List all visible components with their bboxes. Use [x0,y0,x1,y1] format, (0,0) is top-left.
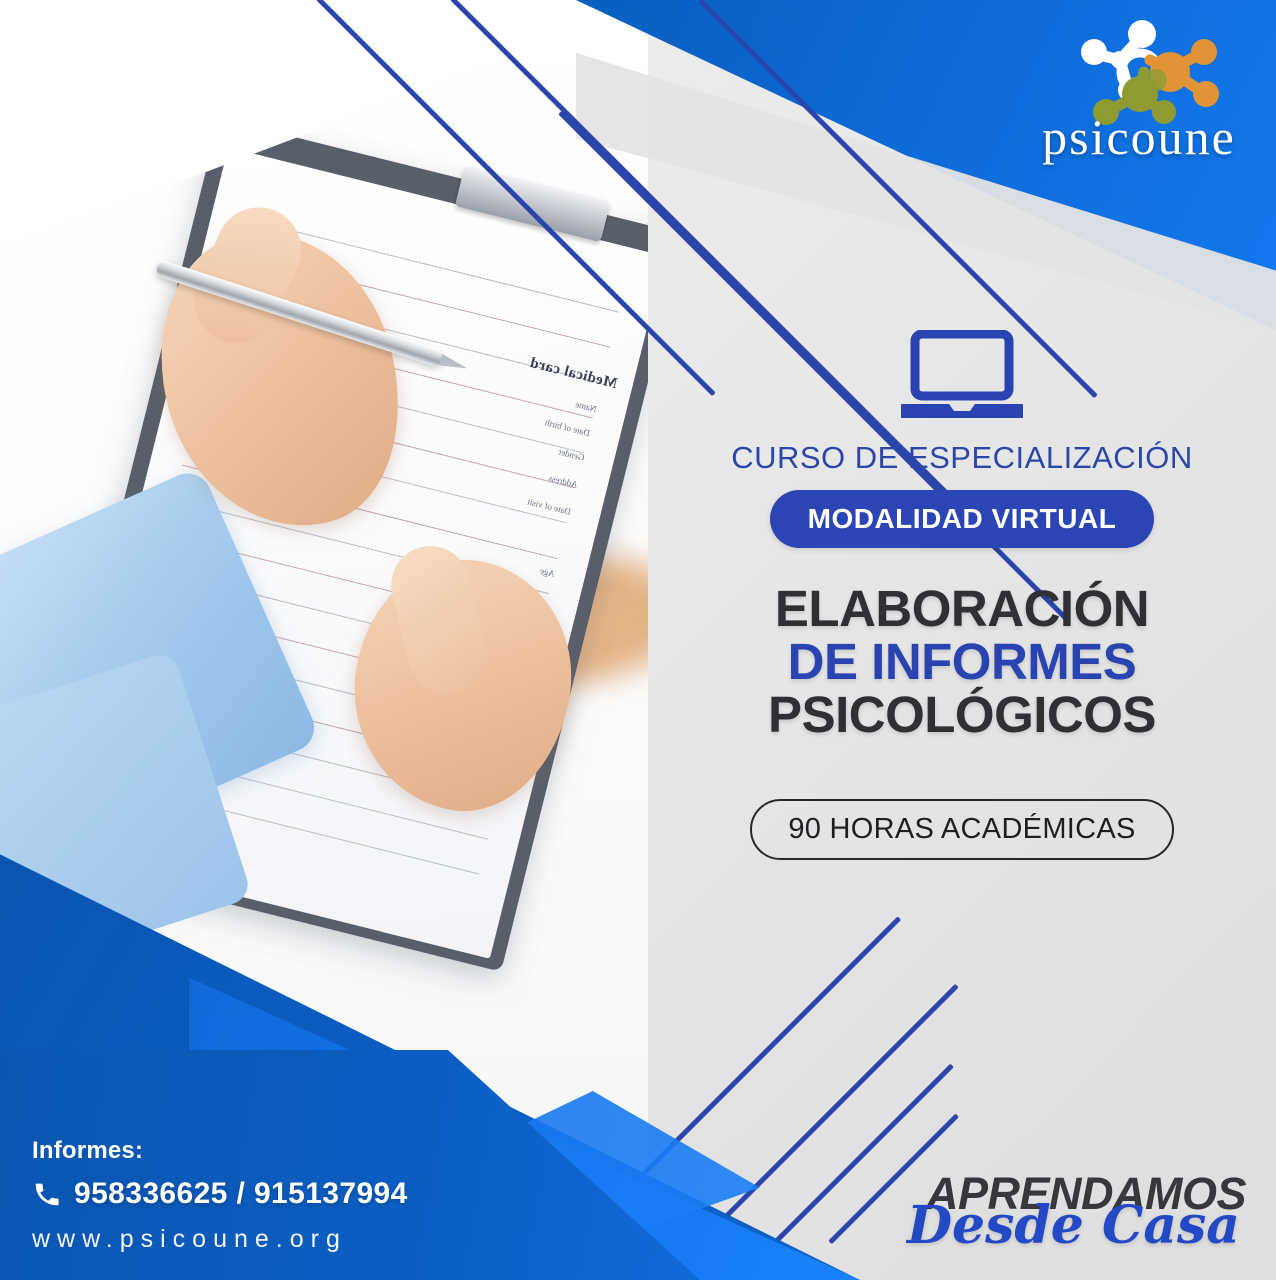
form-title: Medical card [528,355,619,393]
title-line-1: ELABORACIÓN [768,582,1156,635]
slogan: APRENDAMOS Desde Casa [907,1171,1246,1252]
phone-numbers: 958336625 / 915137994 [74,1177,408,1211]
title-line-2: DE INFORMES [768,635,1156,688]
course-subtitle: CURSO DE ESPECIALIZACIÓN [731,440,1193,476]
slogan-line-2: Desde Casa [907,1200,1240,1252]
website-url[interactable]: www.psicoune.org [32,1225,408,1254]
contact-info: Informes: 958336625 / 915137994 www.psic… [32,1137,408,1254]
phone-row[interactable]: 958336625 / 915137994 [32,1177,408,1211]
hours-badge: 90 HORAS ACADÉMICAS [750,799,1173,860]
form-field: Address [547,473,578,490]
modality-badge: MODALIDAD VIRTUAL [770,490,1155,548]
contact-label: Informes: [32,1137,408,1165]
form-field: Gender [557,446,585,462]
course-info: CURSO DE ESPECIALIZACIÓN MODALIDAD VIRTU… [648,0,1276,1280]
phone-handset-icon [32,1179,62,1209]
laptop-icon [901,330,1023,418]
form-field: Age [539,566,556,579]
form-field: Name [574,399,597,414]
form-field: Date of birth [544,417,591,438]
promotional-poster: Medical card Name Date of birth Gender A… [0,0,1276,1280]
title-line-3: PSICOLÓGICOS [768,688,1156,741]
course-title: ELABORACIÓN DE INFORMES PSICOLÓGICOS [768,582,1156,741]
